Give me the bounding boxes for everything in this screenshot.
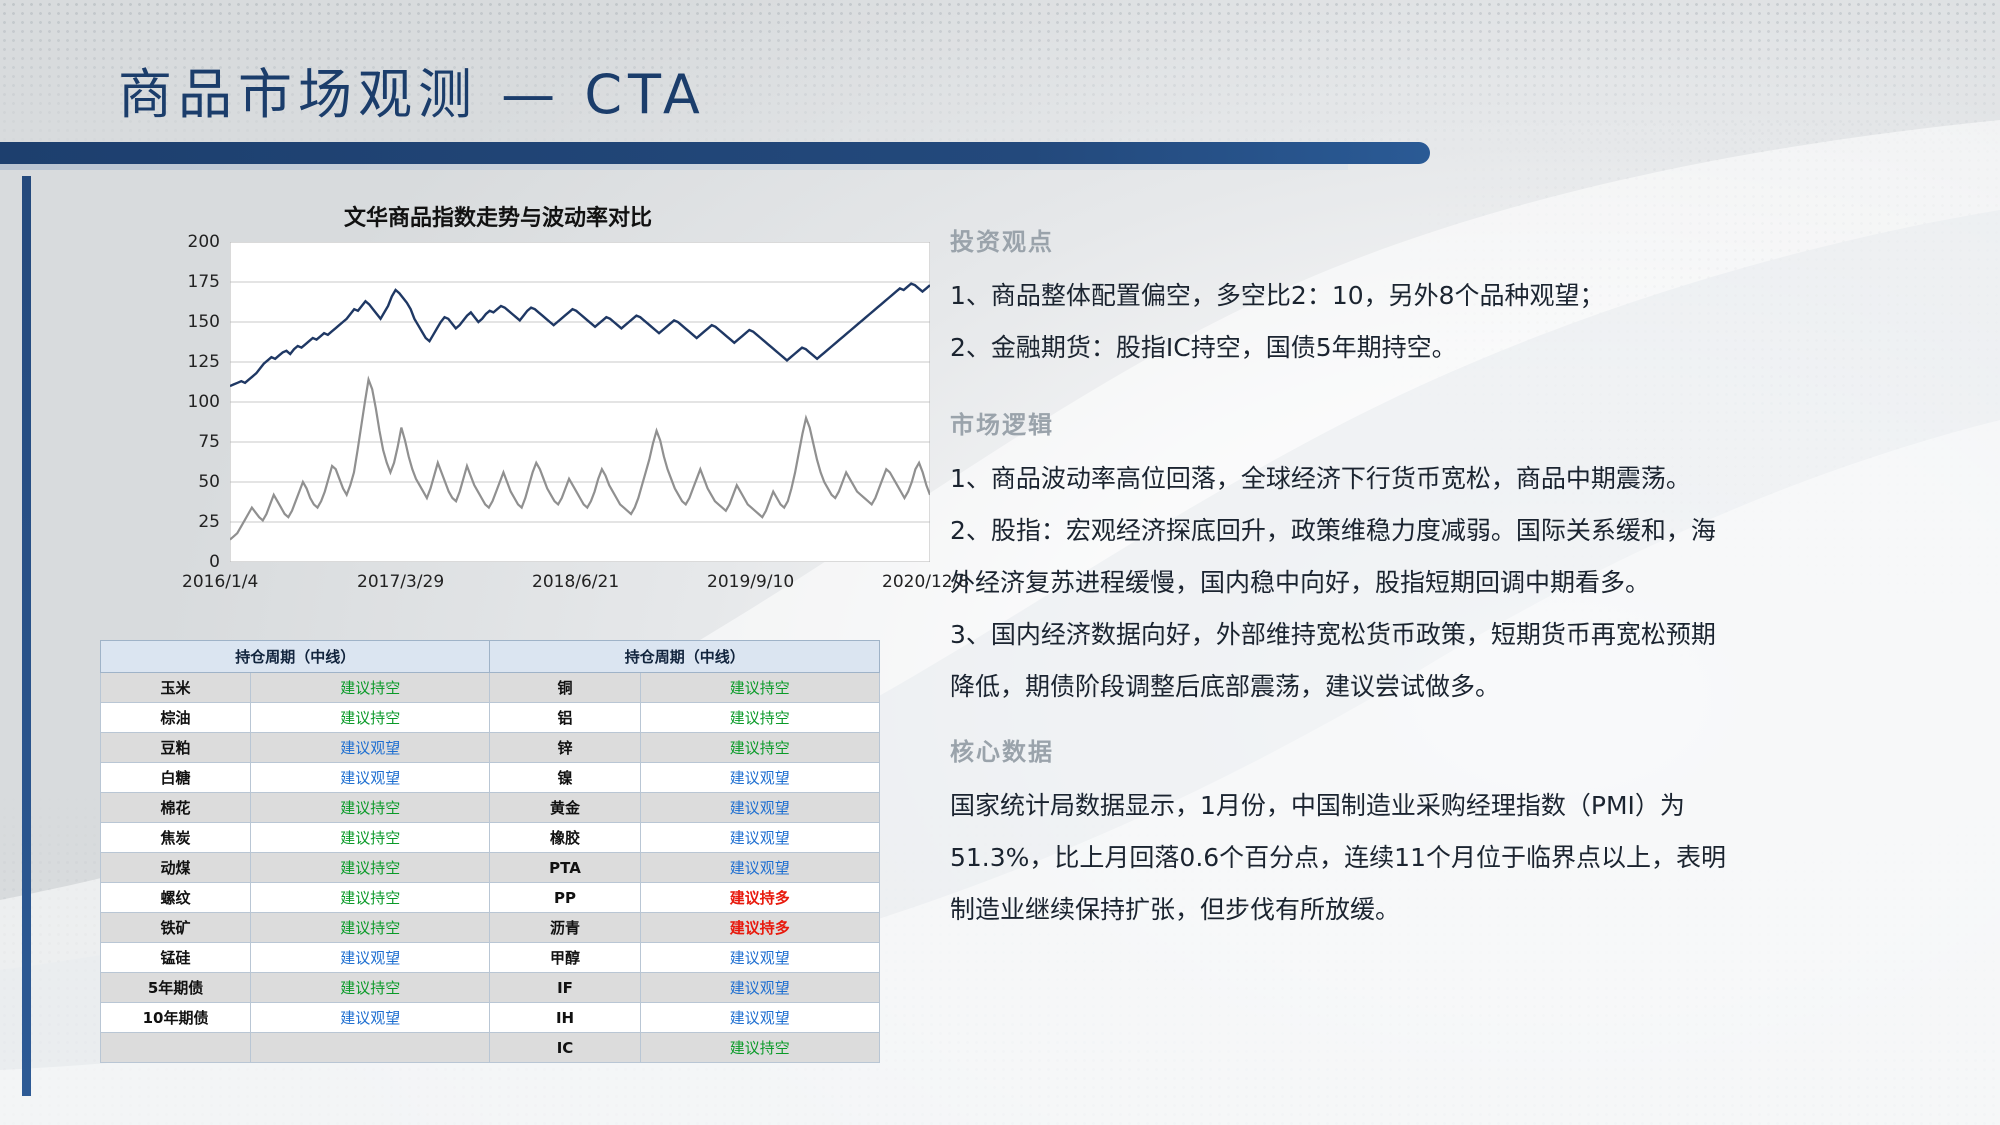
signal-left: 建议持空 bbox=[251, 853, 490, 883]
market-logic-point-1: 1、商品波动率高位回落，全球经济下行货币宽松，商品中期震荡。 bbox=[950, 458, 1910, 500]
investment-view-point-2: 2、金融期货：股指IC持空，国债5年期持空。 bbox=[950, 327, 1910, 369]
positions-table: 持仓周期（中线） 持仓周期（中线） 玉米建议持空铜建议持空棕油建议持空铝建议持空… bbox=[100, 640, 880, 1063]
instrument-name-left: 螺纹 bbox=[101, 883, 251, 913]
signal-left: 建议观望 bbox=[251, 943, 490, 973]
section-title-core-data: 核心数据 bbox=[950, 732, 1910, 767]
chart-panel: 文华商品指数走势与波动率对比 0255075100125150175200 20… bbox=[78, 200, 898, 620]
table-row: 铁矿建议持空沥青建议持多 bbox=[101, 913, 880, 943]
signal-right: 建议观望 bbox=[640, 823, 879, 853]
instrument-name-right: PTA bbox=[490, 853, 640, 883]
chart-x-tick: 2017/3/29 bbox=[357, 572, 444, 592]
instrument-name-right: 铜 bbox=[490, 673, 640, 703]
signal-right: 建议持空 bbox=[640, 703, 879, 733]
chart-y-tick: 125 bbox=[188, 352, 220, 372]
signal-right: 建议观望 bbox=[640, 973, 879, 1003]
table-row: 螺纹建议持空PP建议持多 bbox=[101, 883, 880, 913]
chart-y-tick: 175 bbox=[188, 272, 220, 292]
signal-left: 建议持空 bbox=[251, 973, 490, 1003]
table-row: 10年期债建议观望IH建议观望 bbox=[101, 1003, 880, 1033]
page-title: 商品市场观测 — CTA bbox=[118, 50, 706, 129]
chart-y-tick: 25 bbox=[198, 512, 220, 532]
instrument-name-left: 5年期债 bbox=[101, 973, 251, 1003]
signal-left: 建议观望 bbox=[251, 1003, 490, 1033]
market-logic-point-2-cont: 外经济复苏进程缓慢，国内稳中向好，股指短期回调中期看多。 bbox=[950, 562, 1910, 604]
core-data-line-2: 51.3%，比上月回落0.6个百分点，连续11个月位于临界点以上，表明 bbox=[950, 837, 1910, 879]
table-row: 豆粕建议观望锌建议持空 bbox=[101, 733, 880, 763]
investment-view-point-1: 1、商品整体配置偏空，多空比2：10，另外8个品种观望； bbox=[950, 275, 1910, 317]
signal-left: 建议持空 bbox=[251, 703, 490, 733]
instrument-name-right: IF bbox=[490, 973, 640, 1003]
table-row: 玉米建议持空铜建议持空 bbox=[101, 673, 880, 703]
title-bar bbox=[0, 142, 1430, 164]
signal-right: 建议持空 bbox=[640, 673, 879, 703]
chart-x-tick: 2019/9/10 bbox=[707, 572, 794, 592]
table-row: 棉花建议持空黄金建议观望 bbox=[101, 793, 880, 823]
table-body: 玉米建议持空铜建议持空棕油建议持空铝建议持空豆粕建议观望锌建议持空白糖建议观望镍… bbox=[101, 673, 880, 1063]
signal-right: 建议持空 bbox=[640, 733, 879, 763]
market-logic-point-3-cont: 降低，期债阶段调整后底部震荡，建议尝试做多。 bbox=[950, 666, 1910, 708]
core-data-line-3: 制造业继续保持扩张，但步伐有所放缓。 bbox=[950, 889, 1910, 931]
table-header-right: 持仓周期（中线） bbox=[490, 641, 880, 673]
instrument-name-left: 棕油 bbox=[101, 703, 251, 733]
instrument-name-left: 10年期债 bbox=[101, 1003, 251, 1033]
signal-right: 建议持空 bbox=[640, 1033, 879, 1063]
chart-y-tick: 0 bbox=[209, 552, 220, 572]
instrument-name-left: 棉花 bbox=[101, 793, 251, 823]
signal-left: 建议持空 bbox=[251, 883, 490, 913]
instrument-name-right: 甲醇 bbox=[490, 943, 640, 973]
table-row: 焦炭建议持空橡胶建议观望 bbox=[101, 823, 880, 853]
table-header-row: 持仓周期（中线） 持仓周期（中线） bbox=[101, 641, 880, 673]
instrument-name-right: 黄金 bbox=[490, 793, 640, 823]
table-row: 动煤建议持空PTA建议观望 bbox=[101, 853, 880, 883]
chart-title: 文华商品指数走势与波动率对比 bbox=[258, 200, 738, 232]
slide-canvas: 商品市场观测 — CTA 文华商品指数走势与波动率对比 025507510012… bbox=[0, 0, 2000, 1125]
instrument-name-right: IH bbox=[490, 1003, 640, 1033]
chart-y-tick: 50 bbox=[198, 472, 220, 492]
instrument-name-left: 锰硅 bbox=[101, 943, 251, 973]
instrument-name-left: 动煤 bbox=[101, 853, 251, 883]
chart-y-axis-labels: 0255075100125150175200 bbox=[78, 242, 220, 562]
chart-y-tick: 200 bbox=[188, 232, 220, 252]
core-data-line-1: 国家统计局数据显示，1月份，中国制造业采购经理指数（PMI）为 bbox=[950, 785, 1910, 827]
market-logic-point-2: 2、股指：宏观经济探底回升，政策维稳力度减弱。国际关系缓和，海 bbox=[950, 510, 1910, 552]
chart-y-tick: 75 bbox=[198, 432, 220, 452]
instrument-name-right: PP bbox=[490, 883, 640, 913]
title-bar-shadow bbox=[0, 164, 1348, 170]
instrument-name-left: 白糖 bbox=[101, 763, 251, 793]
chart-y-tick: 150 bbox=[188, 312, 220, 332]
signal-right: 建议观望 bbox=[640, 763, 879, 793]
commentary-column: 投资观点 1、商品整体配置偏空，多空比2：10，另外8个品种观望； 2、金融期货… bbox=[950, 222, 1910, 941]
signal-left: 建议持空 bbox=[251, 913, 490, 943]
signal-left: 建议观望 bbox=[251, 733, 490, 763]
table-header-left: 持仓周期（中线） bbox=[101, 641, 490, 673]
chart-x-axis-labels: 2016/1/42017/3/292018/6/212019/9/102020/… bbox=[138, 572, 938, 602]
instrument-name-left: 玉米 bbox=[101, 673, 251, 703]
chart-x-tick: 2016/1/4 bbox=[182, 572, 258, 592]
signal-left: 建议持空 bbox=[251, 823, 490, 853]
signal-left: 建议观望 bbox=[251, 763, 490, 793]
table-row: 5年期债建议持空IF建议观望 bbox=[101, 973, 880, 1003]
instrument-name-right: 橡胶 bbox=[490, 823, 640, 853]
instrument-name-right: IC bbox=[490, 1033, 640, 1063]
chart-y-tick: 100 bbox=[188, 392, 220, 412]
market-logic-point-3: 3、国内经济数据向好，外部维持宽松货币政策，短期货币再宽松预期 bbox=[950, 614, 1910, 656]
table-row: IC建议持空 bbox=[101, 1033, 880, 1063]
instrument-name-right: 铝 bbox=[490, 703, 640, 733]
signal-left bbox=[251, 1033, 490, 1063]
signal-right: 建议观望 bbox=[640, 793, 879, 823]
instrument-name-right: 镍 bbox=[490, 763, 640, 793]
chart-x-tick: 2018/6/21 bbox=[532, 572, 619, 592]
signal-right: 建议观望 bbox=[640, 853, 879, 883]
signal-right: 建议持多 bbox=[640, 883, 879, 913]
chart-plot-area bbox=[230, 242, 930, 562]
table-row: 棕油建议持空铝建议持空 bbox=[101, 703, 880, 733]
section-title-investment-view: 投资观点 bbox=[950, 222, 1910, 257]
instrument-name-left: 豆粕 bbox=[101, 733, 251, 763]
instrument-name-left bbox=[101, 1033, 251, 1063]
signal-left: 建议持空 bbox=[251, 673, 490, 703]
instrument-name-left: 焦炭 bbox=[101, 823, 251, 853]
signal-right: 建议观望 bbox=[640, 1003, 879, 1033]
signal-right: 建议持多 bbox=[640, 913, 879, 943]
signal-right: 建议观望 bbox=[640, 943, 879, 973]
instrument-name-left: 铁矿 bbox=[101, 913, 251, 943]
signal-left: 建议持空 bbox=[251, 793, 490, 823]
instrument-name-right: 沥青 bbox=[490, 913, 640, 943]
instrument-name-right: 锌 bbox=[490, 733, 640, 763]
table-row: 白糖建议观望镍建议观望 bbox=[101, 763, 880, 793]
section-title-market-logic: 市场逻辑 bbox=[950, 405, 1910, 440]
table-row: 锰硅建议观望甲醇建议观望 bbox=[101, 943, 880, 973]
left-accent-bar bbox=[22, 176, 31, 1096]
